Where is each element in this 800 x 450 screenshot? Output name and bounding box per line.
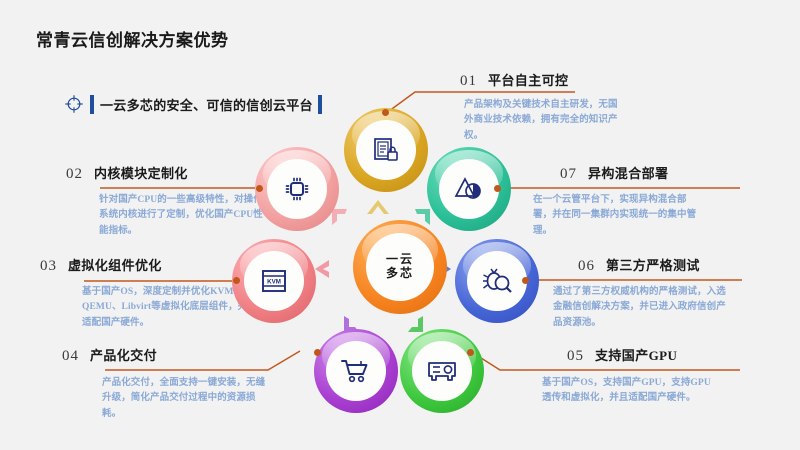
callout-06-number: 06 xyxy=(578,258,595,275)
center-node: 一云 多芯 xyxy=(353,220,447,314)
callout-01-body: 产品架构及关键技术自主研发，无国外商业技术依赖，拥有完全的知识产权。 xyxy=(464,98,626,144)
callout-05: 05 支持国产GPU 基于国产OS，支持国产GPU，支持GPU透传和虚拟化，并且… xyxy=(567,345,767,407)
callout-01-label: 平台自主可控 xyxy=(488,70,568,89)
node-04[interactable] xyxy=(314,329,398,413)
connector-dot-04 xyxy=(314,349,321,356)
callout-06: 06 第三方严格测试 通过了第三方权威机构的严格测试，入选金融信创解决方案，并已… xyxy=(578,255,778,331)
subtitle-bar-right xyxy=(318,95,322,114)
callout-02-label: 内核模块定制化 xyxy=(94,163,188,182)
gpu-card-icon xyxy=(427,359,457,383)
shopping-cart-icon xyxy=(341,358,371,384)
callout-04-body: 产品化交付，全面支持一键安装，无缝升级，简化产品交付过程中的资源损耗。 xyxy=(102,376,272,422)
node-03[interactable]: KVM xyxy=(232,239,316,323)
connector-dot-05 xyxy=(467,349,474,356)
callout-07-label: 异构混合部署 xyxy=(588,163,668,182)
subtitle: 一云多芯的安全、可信的信创云平台 xyxy=(64,93,322,115)
page-title: 常青云信创解决方案优势 xyxy=(36,26,229,51)
callout-06-label: 第三方严格测试 xyxy=(606,255,700,274)
callout-02-body: 针对国产CPU的一些高级特性，对操作系统内核进行了定制，优化国产CPU性能指标。 xyxy=(99,193,264,239)
node-06[interactable] xyxy=(455,239,539,323)
kvm-box-icon: KVM xyxy=(260,268,288,294)
callout-03-body: 基于国产OS，深度定制并优化KVM、QEMU、Libvirt等虚拟化底层组件，完… xyxy=(82,285,259,331)
subtitle-bar-left xyxy=(90,95,94,114)
callout-01: 01 平台自主可控 产品架构及关键技术自主研发，无国外商业技术依赖，拥有完全的知… xyxy=(460,70,630,144)
callout-02: 02 内核模块定制化 针对国产CPU的一些高级特性，对操作系统内核进行了定制，优… xyxy=(66,163,266,239)
callout-02-number: 02 xyxy=(66,166,83,183)
callout-01-number: 01 xyxy=(460,73,477,90)
callout-07-number: 07 xyxy=(560,166,577,183)
callout-03-label: 虚拟化组件优化 xyxy=(68,255,162,274)
document-lock-icon xyxy=(372,136,400,164)
connector-dot-06 xyxy=(522,277,529,284)
center-line-2: 多芯 xyxy=(386,267,414,281)
bug-search-icon xyxy=(482,267,512,295)
connector-dot-02 xyxy=(256,185,263,192)
slide-canvas: 常青云信创解决方案优势 一云多芯的安全、可信的信创云平台 xyxy=(0,0,800,450)
callout-04-number: 04 xyxy=(62,348,79,365)
connector-dot-01 xyxy=(382,109,389,116)
callout-04: 04 产品化交付 产品化交付，全面支持一键安装，无缝升级，简化产品交付过程中的资… xyxy=(62,345,272,422)
callout-07-body: 在一个云管平台下，实现异构混合部署，并在同一集群内实现统一的集中管理。 xyxy=(533,193,701,239)
center-line-1: 一云 xyxy=(386,253,414,267)
chevron-up-icon xyxy=(365,196,391,221)
target-crosshair-icon xyxy=(64,94,84,114)
callout-05-number: 05 xyxy=(567,348,584,365)
node-05[interactable] xyxy=(400,329,484,413)
callout-04-label: 产品化交付 xyxy=(90,345,157,364)
node-07[interactable] xyxy=(427,147,511,231)
callout-05-body: 基于国产OS，支持国产GPU，支持GPU透传和虚拟化，并且适配国产硬件。 xyxy=(542,376,714,407)
callout-05-label: 支持国产GPU xyxy=(595,345,677,364)
connector-dot-07 xyxy=(494,185,501,192)
callout-07: 07 异构混合部署 在一个云管平台下，实现异构混合部署，并在同一集群内实现统一的… xyxy=(560,163,740,239)
connector-dot-03 xyxy=(233,277,240,284)
shapes-blend-icon xyxy=(454,176,484,202)
svg-text:KVM: KVM xyxy=(267,279,281,286)
node-01[interactable] xyxy=(344,108,428,192)
subtitle-text: 一云多芯的安全、可信的信创云平台 xyxy=(100,95,313,114)
callout-03-number: 03 xyxy=(40,258,57,275)
cpu-chip-icon xyxy=(283,175,311,203)
callout-03: 03 虚拟化组件优化 基于国产OS，深度定制并优化KVM、QEMU、Libvir… xyxy=(40,255,250,331)
callout-06-body: 通过了第三方权威机构的严格测试，入选金融信创解决方案，并已进入政府信创产品资源池… xyxy=(553,285,733,331)
node-02[interactable] xyxy=(255,147,339,231)
